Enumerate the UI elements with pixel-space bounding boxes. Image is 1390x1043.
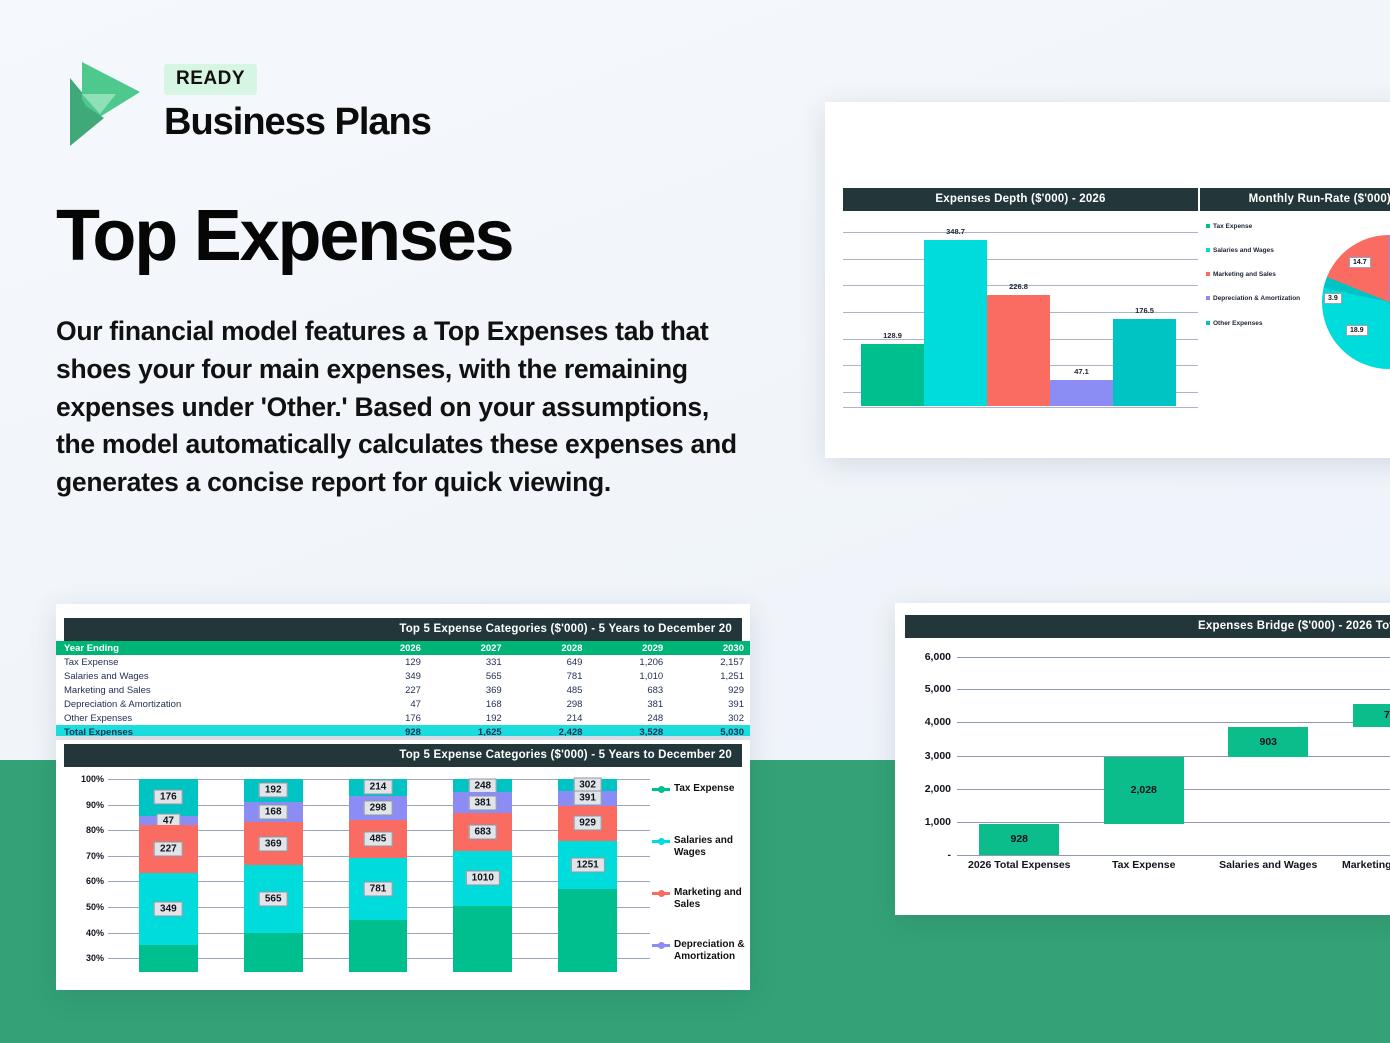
table-row: Salaries and Wages 349 565 781 1,010 1,2… xyxy=(56,669,750,683)
depth-bar-label: 176.5 xyxy=(1113,306,1176,315)
bridge-col-tax-expense: 2,028 xyxy=(1082,644,1207,859)
segment-salaries: 1010 xyxy=(453,851,512,906)
x-tick: Tax Expense xyxy=(1082,859,1207,871)
bridge-columns: 928 2,028 903 702 xyxy=(957,644,1390,859)
waterfall-bar: 903 xyxy=(1228,727,1308,757)
row-cell: 485 xyxy=(508,683,589,697)
pie-label-other: 3.9 xyxy=(1324,293,1342,304)
segment-marketing: 369 xyxy=(244,822,303,866)
table-col-2026: 2026 xyxy=(352,641,427,655)
hero-section: Top Expenses Our financial model feature… xyxy=(56,200,756,502)
segment-marketing: 485 xyxy=(349,820,408,859)
stacked-column-2028: 214 298 485 781 xyxy=(326,775,431,972)
row-cell: 683 xyxy=(588,683,669,697)
y-tick: 70% xyxy=(86,851,104,861)
segment-value: 391 xyxy=(573,791,602,806)
expenses-bridge-card: Expenses Bridge ($'000) - 2026 Total Exp… xyxy=(895,603,1390,915)
y-tick: 4,000 xyxy=(925,716,951,728)
depth-bar-depreciation-amortization: 47.1 xyxy=(1050,217,1113,406)
depth-bar-label: 348.7 xyxy=(924,227,987,236)
stacked-y-axis: 100% 90% 80% 70% 60% 50% 40% 30% xyxy=(56,775,108,972)
row-label: Salaries and Wages xyxy=(56,669,352,683)
top5-stacked-chart-card: Top 5 Expense Categories ($'000) - 5 Yea… xyxy=(56,740,750,990)
table-card-title: Top 5 Expense Categories ($'000) - 5 Yea… xyxy=(64,618,742,641)
depth-chart-title: Expenses Depth ($'000) - 2026 xyxy=(843,188,1198,211)
segment-salaries: 565 xyxy=(244,865,303,932)
x-tick: Marketing and Sales xyxy=(1331,859,1390,871)
segment-tax xyxy=(244,933,303,972)
y-tick: 3,000 xyxy=(925,750,951,762)
table-col-2027: 2027 xyxy=(427,641,508,655)
legend-label: Salaries and Wages xyxy=(674,835,750,859)
legend-item-marketing-and-sales: Marketing and Sales xyxy=(652,887,750,911)
segment-value: 214 xyxy=(364,780,393,795)
segment-value: 298 xyxy=(364,800,393,815)
segment-tax xyxy=(139,945,198,972)
expenses-depth-card: Expenses Depth ($'000) - 2026 Monthly Ru… xyxy=(825,102,1390,458)
brand-logo-text: READY Business Plans xyxy=(164,56,431,144)
depth-bar-tax-expense: 128.9 xyxy=(861,217,924,406)
legend-label: Tax Expense xyxy=(674,783,734,795)
segment-salaries: 781 xyxy=(349,858,408,920)
y-tick: 2,000 xyxy=(925,783,951,795)
row-label: Depreciation & Amortization xyxy=(56,697,352,711)
segment-value: 168 xyxy=(259,804,288,819)
ready-badge: READY xyxy=(164,64,257,95)
page-title: Top Expenses xyxy=(56,200,756,273)
segment-marketing: 929 xyxy=(558,806,617,842)
total-cell: 928 xyxy=(352,725,427,736)
stacked-column-2030: 302 391 929 1251 xyxy=(535,775,640,972)
row-cell: 168 xyxy=(427,697,508,711)
table-total-row: Total Expenses 928 1,625 2,428 3,528 5,0… xyxy=(56,725,750,736)
segment-value: 929 xyxy=(573,816,602,831)
legend-swatch-icon xyxy=(1206,321,1210,325)
legend-item-depreciation-amortization: Depreciation & Amortization xyxy=(1206,295,1306,303)
total-cell: 1,625 xyxy=(427,725,508,736)
segment-marketing: 227 xyxy=(139,825,198,872)
row-cell: 369 xyxy=(427,683,508,697)
table-col-2028: 2028 xyxy=(508,641,589,655)
x-tick: 2026 Total Expenses xyxy=(957,859,1082,871)
segment-value: 683 xyxy=(468,825,497,840)
monthly-run-rate-pie-chart: 10.7 14.7 3.9 18.9 xyxy=(1310,217,1390,407)
legend-swatch-icon xyxy=(1206,248,1210,252)
segment-value: 176 xyxy=(154,790,183,805)
segment-other-expenses: 302 xyxy=(558,779,617,791)
y-tick: 40% xyxy=(86,928,104,938)
legend-item-salaries-and-wages: Salaries and Wages xyxy=(1206,247,1306,255)
y-tick: 60% xyxy=(86,876,104,886)
segment-tax xyxy=(558,889,617,972)
bar-value: 903 xyxy=(1228,736,1308,748)
total-cell: 2,428 xyxy=(508,725,589,736)
segment-value: 349 xyxy=(154,902,183,917)
segment-marketing: 683 xyxy=(453,813,512,850)
y-tick: 80% xyxy=(86,825,104,835)
stacked-column-2029: 248 381 683 1010 xyxy=(430,775,535,972)
x-tick: Salaries and Wages xyxy=(1206,859,1331,871)
row-cell: 302 xyxy=(669,711,750,725)
stacked-columns: 176 47 227 349 192 xyxy=(116,775,640,972)
legend-line-marker-icon xyxy=(652,784,670,794)
segment-salaries: 1251 xyxy=(558,841,617,889)
table-row: Depreciation & Amortization 47 168 298 3… xyxy=(56,697,750,711)
legend-swatch-icon xyxy=(1206,272,1210,276)
bar-value: 702 xyxy=(1353,709,1390,721)
depth-bar-label: 226.8 xyxy=(987,282,1050,291)
segment-value: 381 xyxy=(468,795,497,810)
stacked-card-title: Top 5 Expense Categories ($'000) - 5 Yea… xyxy=(64,744,742,767)
y-tick: 6,000 xyxy=(925,651,951,663)
table-col-2030: 2030 xyxy=(669,641,750,655)
bar-value: 2,028 xyxy=(1104,784,1184,796)
legend-label: Other Expenses xyxy=(1213,320,1263,328)
bar-value: 928 xyxy=(979,833,1059,845)
row-cell: 214 xyxy=(508,711,589,725)
row-cell: 1,010 xyxy=(588,669,669,683)
segment-value: 369 xyxy=(259,836,288,851)
brand-name: Business Plans xyxy=(164,101,431,144)
stacked-plot-area: 176 47 227 349 192 xyxy=(108,775,650,972)
segment-value: 248 xyxy=(468,778,497,793)
row-cell: 331 xyxy=(427,655,508,669)
y-tick: 50% xyxy=(86,902,104,912)
table-header-row: Year Ending 2026 2027 2028 2029 2030 xyxy=(56,641,750,655)
total-cell: 5,030 xyxy=(669,725,750,736)
y-tick: 90% xyxy=(86,800,104,810)
row-cell: 349 xyxy=(352,669,427,683)
total-cell: 3,528 xyxy=(588,725,669,736)
row-cell: 176 xyxy=(352,711,427,725)
table-col-2029: 2029 xyxy=(588,641,669,655)
table-row: Other Expenses 176 192 214 248 302 xyxy=(56,711,750,725)
legend-label: Depreciation & Amortization xyxy=(674,939,750,963)
segment-other-expenses: 214 xyxy=(349,779,408,796)
table-row: Marketing and Sales 227 369 485 683 929 xyxy=(56,683,750,697)
row-label: Tax Expense xyxy=(56,655,352,669)
legend-label: Depreciation & Amortization xyxy=(1213,295,1300,303)
legend-line-marker-icon xyxy=(652,940,670,950)
pie-label-marketing: 14.7 xyxy=(1349,257,1371,268)
table-row: Tax Expense 129 331 649 1,206 2,157 xyxy=(56,655,750,669)
y-tick: 100% xyxy=(81,774,104,784)
waterfall-bar: 702 xyxy=(1353,704,1390,727)
play-triangle-logo-icon xyxy=(56,56,148,148)
segment-value: 1251 xyxy=(570,858,604,873)
segment-value: 1010 xyxy=(466,871,500,886)
total-label: Total Expenses xyxy=(56,725,352,736)
row-cell: 47 xyxy=(352,697,427,711)
row-cell: 929 xyxy=(669,683,750,697)
bridge-col-marketing-and-sales: 702 xyxy=(1331,644,1390,859)
bridge-col-2026-total-expenses: 928 xyxy=(957,644,1082,859)
bridge-col-salaries-and-wages: 903 xyxy=(1206,644,1331,859)
segment-other-expenses: 176 xyxy=(139,779,198,816)
pie-label-salaries: 18.9 xyxy=(1346,325,1368,336)
depth-chart-legend: Tax Expense Salaries and Wages Marketing… xyxy=(1198,217,1310,407)
legend-line-marker-icon xyxy=(652,888,670,898)
y-tick: 1,000 xyxy=(925,816,951,828)
runrate-chart-title: Monthly Run-Rate ($'000) - xyxy=(1200,188,1390,211)
depth-bar-marketing-and-sales: 226.8 xyxy=(987,217,1050,406)
row-cell: 227 xyxy=(352,683,427,697)
row-cell: 781 xyxy=(508,669,589,683)
top5-expense-table-card: Top 5 Expense Categories ($'000) - 5 Yea… xyxy=(56,604,750,736)
segment-value: 192 xyxy=(259,783,288,798)
segment-value: 781 xyxy=(364,882,393,897)
bridge-x-axis-labels: 2026 Total Expenses Tax Expense Salaries… xyxy=(957,859,1390,871)
segment-other-expenses: 248 xyxy=(453,779,512,793)
row-cell: 129 xyxy=(352,655,427,669)
table-col-year-ending: Year Ending xyxy=(56,641,352,655)
legend-label: Salaries and Wages xyxy=(1213,247,1274,255)
bridge-card-title: Expenses Bridge ($'000) - 2026 Total Exp… xyxy=(905,615,1390,638)
legend-item-tax-expense: Tax Expense xyxy=(652,783,750,795)
segment-depreciation: 381 xyxy=(453,792,512,813)
legend-swatch-icon xyxy=(1206,224,1210,228)
segment-salaries: 349 xyxy=(139,873,198,946)
bridge-y-axis: 6,000 5,000 4,000 3,000 2,000 1,000 - xyxy=(895,644,957,859)
legend-label: Marketing and Sales xyxy=(674,887,750,911)
waterfall-bar: 2,028 xyxy=(1104,757,1184,824)
row-cell: 565 xyxy=(427,669,508,683)
row-cell: 248 xyxy=(588,711,669,725)
row-cell: 381 xyxy=(588,697,669,711)
depth-card-titles: Expenses Depth ($'000) - 2026 Monthly Ru… xyxy=(843,188,1390,211)
row-label: Other Expenses xyxy=(56,711,352,725)
segment-depreciation: 47 xyxy=(139,816,198,826)
row-cell: 391 xyxy=(669,697,750,711)
segment-value: 227 xyxy=(154,842,183,857)
row-cell: 2,157 xyxy=(669,655,750,669)
stacked-column-2027: 192 168 369 565 xyxy=(221,775,326,972)
y-tick: 30% xyxy=(86,953,104,963)
segment-depreciation: 391 xyxy=(558,791,617,806)
depth-bar-label: 128.9 xyxy=(861,331,924,340)
segment-tax xyxy=(349,920,408,972)
row-label: Marketing and Sales xyxy=(56,683,352,697)
row-cell: 192 xyxy=(427,711,508,725)
row-cell: 649 xyxy=(508,655,589,669)
depth-bar-other-expenses: 176.5 xyxy=(1113,217,1176,406)
stacked-column-2026: 176 47 227 349 xyxy=(116,775,221,972)
segment-depreciation: 298 xyxy=(349,796,408,820)
y-tick: 5,000 xyxy=(925,683,951,695)
legend-swatch-icon xyxy=(1206,296,1210,300)
legend-item-tax-expense: Tax Expense xyxy=(1206,223,1306,231)
brand-logo: READY Business Plans xyxy=(56,56,431,148)
legend-item-marketing-and-sales: Marketing and Sales xyxy=(1206,271,1306,279)
segment-depreciation: 168 xyxy=(244,802,303,822)
segment-value: 485 xyxy=(364,831,393,846)
row-cell: 1,251 xyxy=(669,669,750,683)
legend-label: Marketing and Sales xyxy=(1213,271,1276,279)
legend-item-depreciation-amortization: Depreciation & Amortization xyxy=(652,939,750,963)
row-cell: 298 xyxy=(508,697,589,711)
y-tick: - xyxy=(948,849,952,861)
depth-bars: 128.9 348.7 226.8 47.1 xyxy=(861,217,1176,406)
legend-item-other-expenses: Other Expenses xyxy=(1206,320,1306,328)
expenses-depth-bar-chart: 128.9 348.7 226.8 47.1 xyxy=(843,217,1198,407)
depth-bar-salaries-and-wages: 348.7 xyxy=(924,217,987,406)
segment-tax xyxy=(453,906,512,972)
legend-line-marker-icon xyxy=(652,836,670,846)
depth-bar-label: 47.1 xyxy=(1050,367,1113,376)
bridge-plot-area: 928 2,028 903 702 xyxy=(957,644,1390,859)
legend-label: Tax Expense xyxy=(1213,223,1252,231)
row-cell: 1,206 xyxy=(588,655,669,669)
legend-item-salaries-and-wages: Salaries and Wages xyxy=(652,835,750,859)
segment-other-expenses: 192 xyxy=(244,779,303,802)
hero-description: Our financial model features a Top Expen… xyxy=(56,313,746,501)
stacked-chart-legend: Tax Expense Salaries and Wages Marketing… xyxy=(650,775,750,972)
waterfall-bar: 928 xyxy=(979,824,1059,855)
top5-expense-table: Year Ending 2026 2027 2028 2029 2030 Tax… xyxy=(56,641,750,736)
segment-value: 565 xyxy=(259,891,288,906)
